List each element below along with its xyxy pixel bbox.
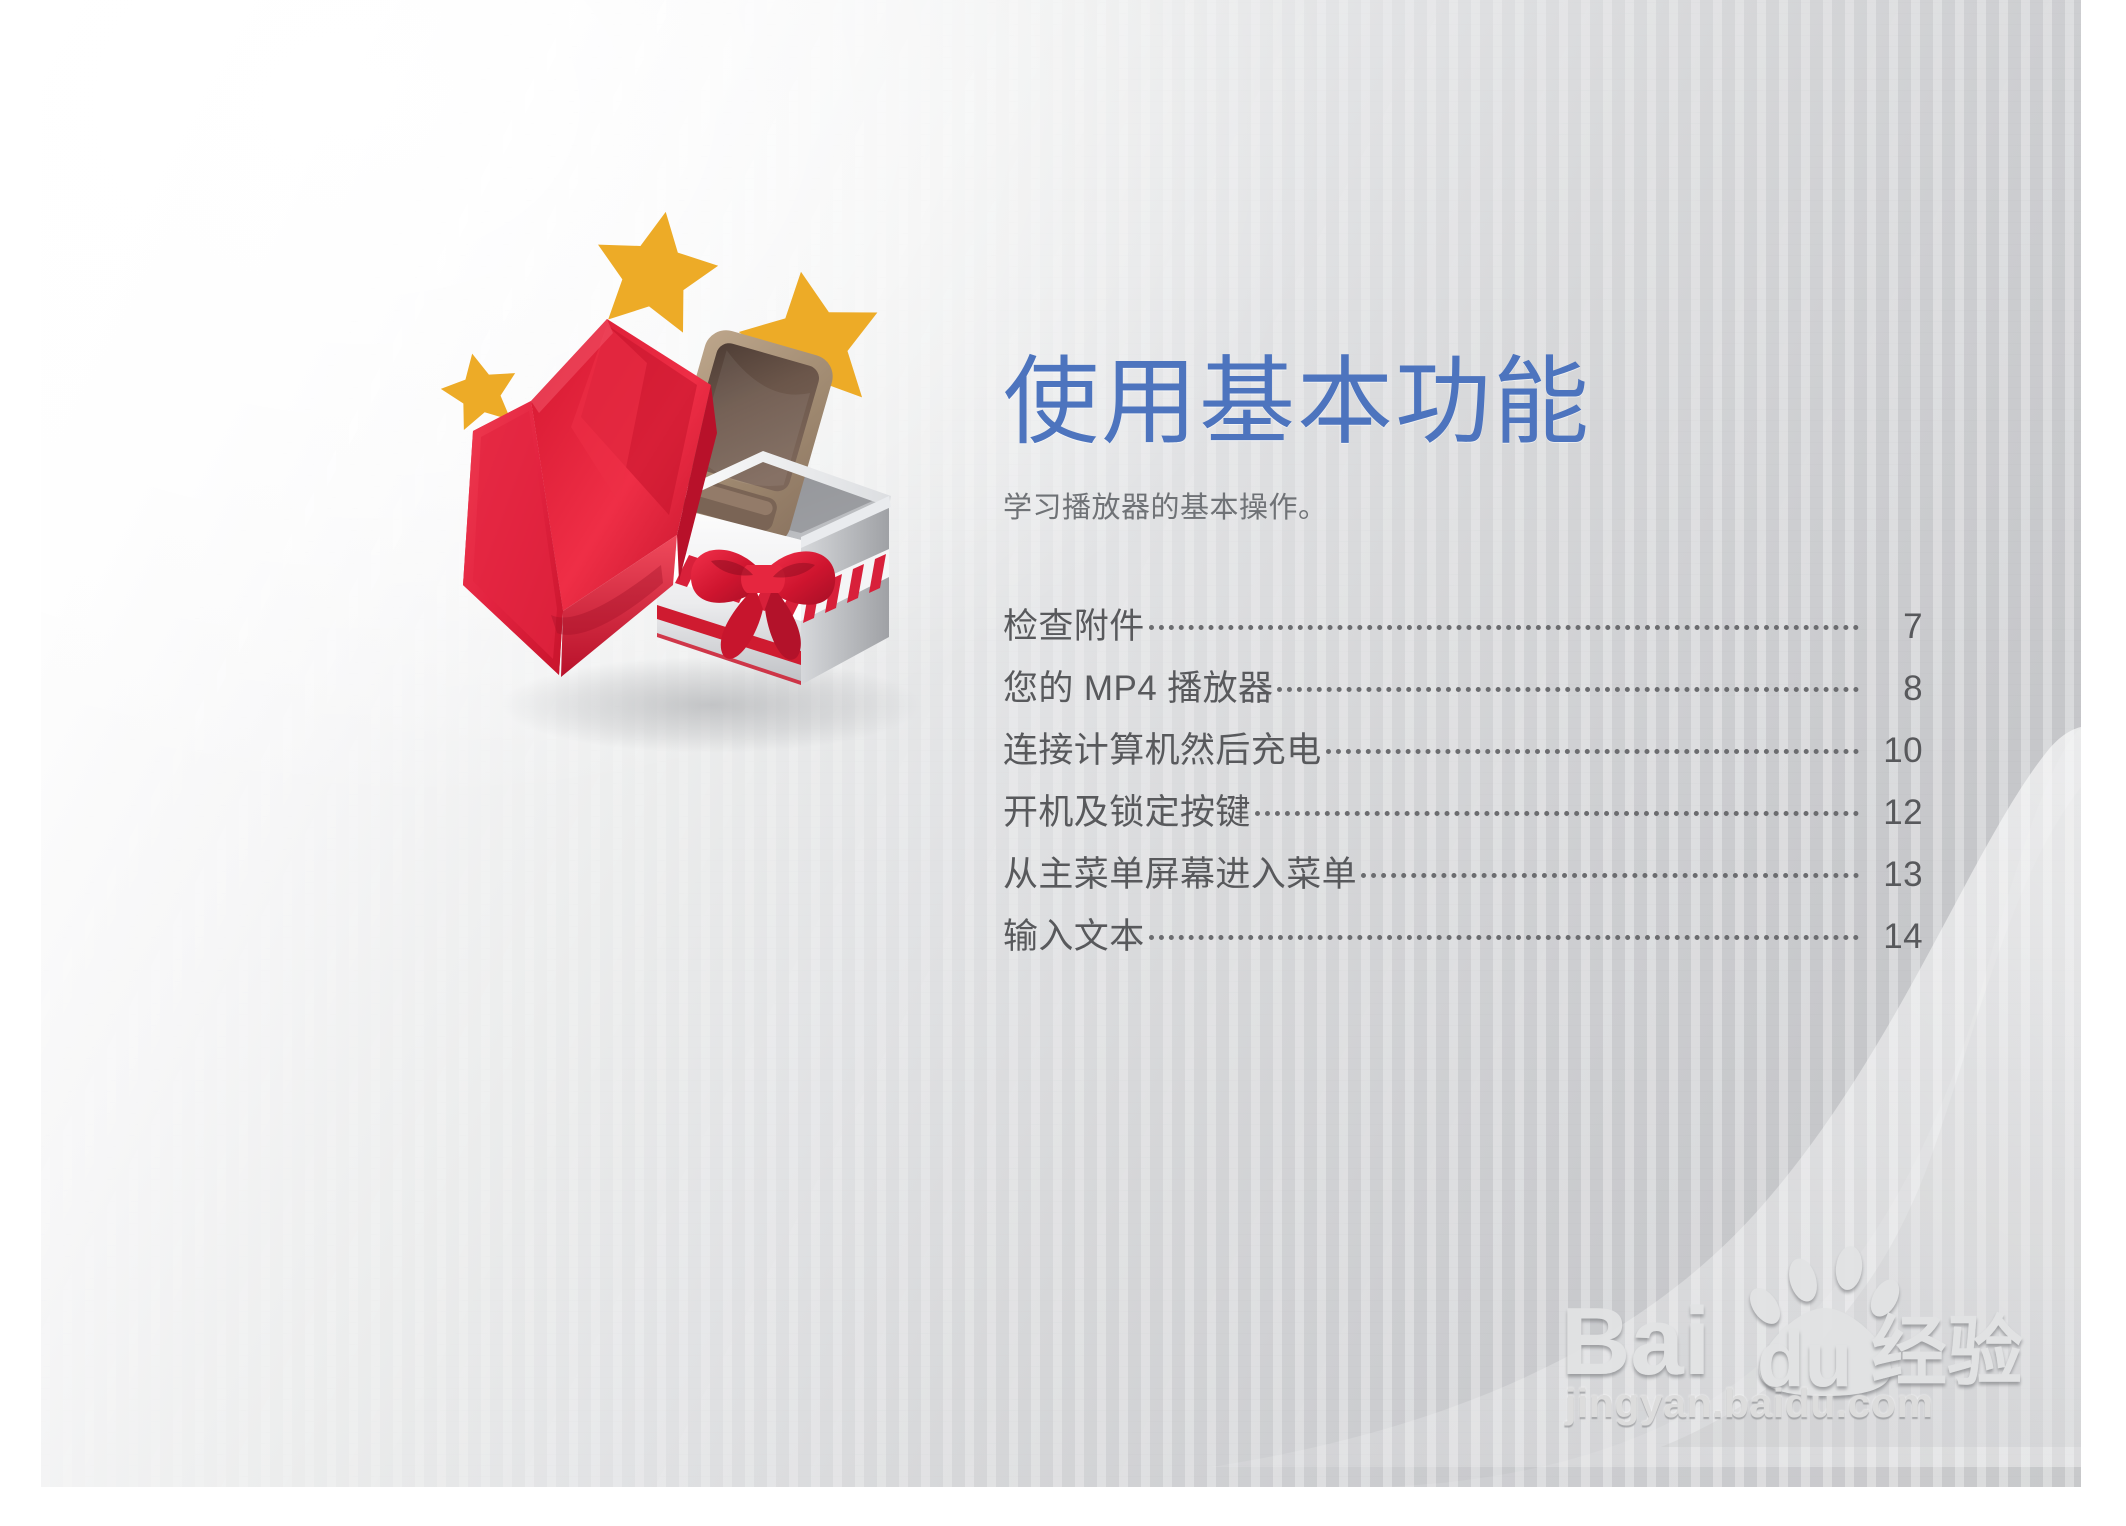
toc-dot-leader [1255, 789, 1859, 824]
toc-entry-label: 检查附件 [1003, 598, 1145, 649]
toc-entry-label: 连接计算机然后充电 [1003, 722, 1322, 773]
svg-text:Bai: Bai [1561, 1288, 1710, 1395]
page-title: 使用基本功能 [1003, 352, 1923, 454]
toc-entry-page: 13 [1861, 855, 1923, 895]
page-subtitle: 学习播放器的基本操作。 [1003, 484, 1923, 526]
page-sheet: 使用基本功能 学习播放器的基本操作。 检查附件 7 您的 MP4 播放器 8 连… [41, 0, 2081, 1487]
watermark-url: jingyan.baidu.com [1565, 1380, 1933, 1427]
toc-entry-page: 14 [1861, 917, 1923, 957]
toc-entry-label: 输入文本 [1003, 908, 1145, 959]
toc-entry-page: 10 [1861, 731, 1923, 771]
toc-dot-leader [1326, 727, 1859, 762]
toc-entry[interactable]: 检查附件 7 [1003, 598, 1923, 660]
toc-entry[interactable]: 您的 MP4 播放器 8 [1003, 660, 1923, 722]
toc-dot-leader [1277, 665, 1859, 700]
page-root: 使用基本功能 学习播放器的基本操作。 检查附件 7 您的 MP4 播放器 8 连… [0, 0, 2126, 1526]
toc-entry-label: 开机及锁定按键 [1003, 784, 1251, 835]
star-icon-large [586, 201, 726, 336]
chapter-text-column: 使用基本功能 学习播放器的基本操作。 检查附件 7 您的 MP4 播放器 8 连… [1003, 352, 1923, 970]
toc-entry[interactable]: 连接计算机然后充电 10 [1003, 722, 1923, 784]
toc-dot-leader [1149, 913, 1859, 948]
toc-entry-label: 您的 MP4 播放器 [1003, 660, 1273, 711]
toc-entry-page: 12 [1861, 793, 1923, 833]
toc-entry[interactable]: 从主菜单屏幕进入菜单 13 [1003, 846, 1923, 908]
toc-entry-label: 从主菜单屏幕进入菜单 [1003, 846, 1357, 897]
toc-entry[interactable]: 开机及锁定按键 12 [1003, 784, 1923, 846]
toc-entry-page: 8 [1861, 669, 1923, 709]
toc-entry[interactable]: 输入文本 14 [1003, 908, 1923, 970]
toc-dot-leader [1361, 851, 1859, 886]
gift-box-illustration [411, 185, 971, 765]
toc-entry-page: 7 [1861, 607, 1923, 647]
table-of-contents: 检查附件 7 您的 MP4 播放器 8 连接计算机然后充电 10 开机及锁定按键 [1003, 598, 1923, 970]
toc-dot-leader [1149, 603, 1859, 638]
